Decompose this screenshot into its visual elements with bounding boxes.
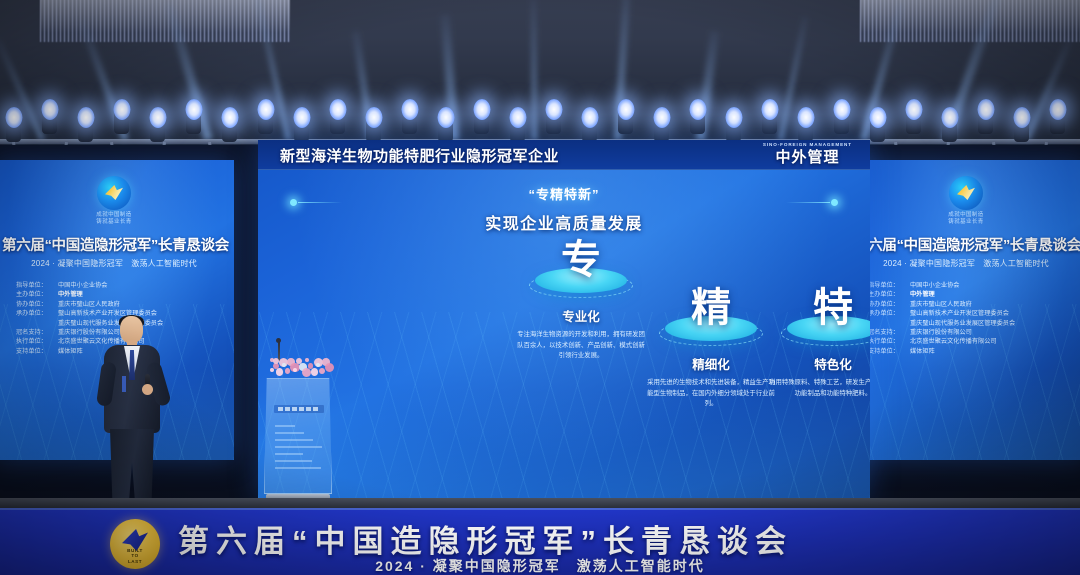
spotlight-glow xyxy=(1049,99,1066,120)
spotlight-fixture xyxy=(294,116,309,142)
organizer-row: 指导单位：中国中小企业协会 xyxy=(16,281,226,290)
flower-blossom xyxy=(270,368,274,372)
spotlight-glow xyxy=(653,107,670,128)
spotlight-fixture xyxy=(1050,108,1065,134)
organizer-role: 指导单位： xyxy=(16,281,58,290)
spotlight-fixture xyxy=(6,116,21,142)
ceiling-truss xyxy=(0,0,1080,150)
spotlight-fixture xyxy=(150,116,165,142)
organizer-role: 支持单位： xyxy=(16,347,58,356)
side-screen-right: 成就中国制造 铸就基业长青 第六届“中国造隐形冠军”长青恳谈会 2024 · 凝… xyxy=(846,160,1080,460)
pillar-description: 专注海洋生物资源的开发和利用，拥有研发团队百余人，以技术创新、产品创新、模式创新… xyxy=(506,330,656,362)
event-emblem-icon xyxy=(949,176,983,210)
organizer-role: 主办单位： xyxy=(16,290,58,299)
spotlight-glow xyxy=(761,99,778,120)
spotlight-fixture xyxy=(690,108,705,134)
spotlight-glow xyxy=(689,99,706,120)
spotlight-fixture xyxy=(654,116,669,142)
spotlight-fixture xyxy=(258,108,273,134)
spotlight-glow xyxy=(41,99,58,120)
spotlight-fixture xyxy=(546,108,561,134)
organizer-name: 北京盛世聚云文化传播有限公司 xyxy=(910,338,997,345)
side-event-subtitle: 2024 · 凝聚中国隐形冠军 激荡人工智能时代 xyxy=(2,258,226,269)
organizer-row: 冠名支持：重庆银行股份有限公司 xyxy=(868,328,1078,337)
emblem-motto-line1: 成就中国制造 xyxy=(2,212,226,219)
spotlight-glow xyxy=(185,99,202,120)
organizer-name: 璧山高新技术产业开发区管理委员会 xyxy=(910,310,1009,317)
podium-text-line xyxy=(275,453,303,455)
spotlight-glow xyxy=(617,99,634,120)
spotlight-glow xyxy=(77,107,94,128)
spotlight-fixture xyxy=(618,108,633,134)
organizer-row: 协办单位：重庆市璧山区人民政府 xyxy=(868,300,1078,309)
spotlight-fixture xyxy=(474,108,489,134)
banner-subtitle: 2024 · 凝聚中国隐形冠军 激荡人工智能时代 xyxy=(0,556,1080,575)
spotlight-glow xyxy=(5,107,22,128)
conference-stage-photo: 成就中国制造 铸就基业长青 第六届“中国造隐形冠军”长青恳谈会 2024 · 凝… xyxy=(0,0,1080,575)
side-event-subtitle: 2024 · 凝聚中国隐形冠军 激荡人工智能时代 xyxy=(854,258,1078,269)
organizer-role: 协办单位： xyxy=(16,300,58,309)
spotlight-glow xyxy=(509,107,526,128)
organizer-row: 重庆璧山现代服务业发展区管理委员会 xyxy=(868,319,1078,328)
acrylic-podium xyxy=(264,358,332,508)
spotlight-fixture xyxy=(78,116,93,142)
organizer-name: 重庆璧山现代服务业发展区管理委员会 xyxy=(910,320,1015,327)
spotlight-fixture xyxy=(762,108,777,134)
event-emblem-icon xyxy=(97,176,131,210)
flower-blossom xyxy=(276,368,284,376)
side-event-title: 第六届“中国造隐形冠军”长青恳谈会 xyxy=(2,234,226,255)
podium-nameplate xyxy=(274,405,324,413)
flower-blossom xyxy=(311,368,319,376)
spotlight-glow xyxy=(329,99,346,120)
stage-floor-edge xyxy=(0,498,1080,508)
spotlight-fixture xyxy=(978,108,993,134)
pillar-glyph: 专 xyxy=(506,240,656,280)
pillar-glyph: 特 xyxy=(758,288,870,328)
organizer-name: 重庆市璧山区人民政府 xyxy=(910,301,972,308)
organizer-role: 执行单位： xyxy=(868,337,910,346)
spotlight-fixture xyxy=(402,108,417,134)
slide-title: 新型海洋生物功能特肥行业隐形冠军企业 xyxy=(280,145,559,166)
speaker-lanyard xyxy=(122,376,126,392)
spotlight-glow xyxy=(293,107,310,128)
pillar-1: 专专业化专注海洋生物资源的开发和利用，拥有研发团队百余人，以技术创新、产品创新、… xyxy=(506,240,656,362)
emblem-motto-line2: 铸就基业长青 xyxy=(2,219,226,226)
emblem-motto-line2: 铸就基业长青 xyxy=(854,219,1078,226)
spotlight-fixture xyxy=(870,116,885,142)
spotlight-glow xyxy=(797,107,814,128)
spotlight-glow xyxy=(113,99,130,120)
podium-body xyxy=(264,378,332,494)
pillar-heading: 专业化 xyxy=(506,306,656,325)
spotlight-fixture xyxy=(1014,116,1029,142)
flower-arrangement xyxy=(268,356,330,378)
logo-motto-l1: BUILT xyxy=(127,548,143,553)
light-beam xyxy=(531,0,537,140)
spotlight-glow xyxy=(977,99,994,120)
speaker-head xyxy=(120,316,143,343)
spotlight-fixture xyxy=(726,116,741,142)
podium-text-line xyxy=(275,467,321,469)
organizer-role: 协办单位： xyxy=(868,300,910,309)
main-presentation-screen: 新型海洋生物功能特肥行业隐形冠军企业 SINO-FOREIGN MANAGEME… xyxy=(258,140,870,498)
spotlight-fixture xyxy=(42,108,57,134)
organizer-role: 冠名支持： xyxy=(16,328,58,337)
spotlight-fixture xyxy=(366,116,381,142)
spotlight-glow xyxy=(545,99,562,120)
slide-slogan: 实现企业高质量发展 xyxy=(258,210,870,234)
brand-chinese-name: 中外管理 xyxy=(763,146,852,167)
spotlight-glow xyxy=(257,99,274,120)
spotlight-glow xyxy=(149,107,166,128)
organizer-role: 指导单位： xyxy=(868,281,910,290)
spotlight-fixture xyxy=(222,116,237,142)
organizer-name: 媒体矩阵 xyxy=(910,348,935,355)
speaker-trousers xyxy=(110,429,154,509)
organizer-name: 中国中小企业协会 xyxy=(910,282,960,289)
spotlight-fixture xyxy=(438,116,453,142)
spotlight-glow xyxy=(869,107,886,128)
organizer-name: 媒体矩阵 xyxy=(58,348,83,355)
organizer-row: 主办单位：中外管理 xyxy=(16,290,226,299)
spotlight-glow xyxy=(401,99,418,120)
flower-blossom xyxy=(302,368,311,377)
organizer-row: 执行单位：北京盛世聚云文化传播有限公司 xyxy=(868,337,1078,346)
podium-printed-text xyxy=(275,425,323,475)
slide-kicker: “专精特新” xyxy=(258,184,870,203)
podium-text-line xyxy=(275,460,312,462)
spotlight-fixture xyxy=(798,116,813,142)
spotlight-glow xyxy=(725,107,742,128)
banner-main-title: 第六届“中国造隐形冠军”长青恳谈会 xyxy=(178,516,793,561)
podium-text-line xyxy=(275,446,322,448)
spotlight-glow xyxy=(581,107,598,128)
spotlight-glow xyxy=(833,99,850,120)
stage-front-banner: BUILT TO LAST 第六届“中国造隐形冠军”长青恳谈会 2024 · 凝… xyxy=(0,508,1080,575)
emblem-motto-line1: 成就中国制造 xyxy=(854,212,1078,219)
organizer-row: 主办单位：中外管理 xyxy=(868,290,1078,299)
side-event-title: 第六届“中国造隐形冠军”长青恳谈会 xyxy=(854,234,1078,255)
spotlight-fixture xyxy=(834,108,849,134)
podium-text-line xyxy=(275,439,313,441)
spotlight-glow xyxy=(905,99,922,120)
spotlight-glow xyxy=(473,99,490,120)
flower-blossom xyxy=(305,358,309,362)
speaker-person xyxy=(96,316,168,512)
pillar-heading: 特色化 xyxy=(758,354,870,373)
organizer-role: 冠名支持： xyxy=(868,328,910,337)
podium-text-line xyxy=(275,432,304,434)
speaker-hand xyxy=(142,384,153,395)
organizer-role: 支持单位： xyxy=(868,347,910,356)
spotlight-fixture xyxy=(330,108,345,134)
spotlight-glow xyxy=(437,107,454,128)
organizer-row: 承办单位：璧山高新技术产业开发区管理委员会 xyxy=(868,309,1078,318)
organizer-name: 重庆银行股份有限公司 xyxy=(910,329,972,336)
spotlight-fixture xyxy=(906,108,921,134)
organizer-role: 主办单位： xyxy=(868,290,910,299)
spotlight-fixture xyxy=(114,108,129,134)
spotlight-glow xyxy=(221,107,238,128)
organizer-role: 承办单位： xyxy=(16,309,58,318)
flower-blossom xyxy=(282,363,286,367)
screen-skyline-main xyxy=(258,391,870,498)
podium-text-line xyxy=(275,425,295,427)
organizer-name: 重庆市璧山区人民政府 xyxy=(58,301,120,308)
organizer-name: 中外管理 xyxy=(910,291,935,298)
spotlight-glow xyxy=(941,107,958,128)
organizer-role: 执行单位： xyxy=(16,337,58,346)
organizer-name: 中国中小企业协会 xyxy=(58,282,108,289)
organizer-row: 指导单位：中国中小企业协会 xyxy=(868,281,1078,290)
spotlight-glow xyxy=(365,107,382,128)
organizer-row: 支持单位：媒体矩阵 xyxy=(868,347,1078,356)
spotlight-fixture xyxy=(582,116,597,142)
organizer-row: 协办单位：重庆市璧山区人民政府 xyxy=(16,300,226,309)
magazine-brand-logo: SINO-FOREIGN MANAGEMENT 中外管理 xyxy=(763,142,852,167)
organizer-list-right: 指导单位：中国中小企业协会主办单位：中外管理协办单位：重庆市璧山区人民政府承办单… xyxy=(854,281,1078,356)
spotlight-glow xyxy=(1013,107,1030,128)
organizer-name: 中外管理 xyxy=(58,291,83,298)
organizer-role: 承办单位： xyxy=(868,309,910,318)
pillar-3: 特特色化利用特殊原料、特殊工艺，研发生产系列特殊功能制品和功能特种肥料。 xyxy=(758,288,870,399)
flower-blossom xyxy=(273,358,279,364)
spotlight-fixture xyxy=(942,116,957,142)
spotlight-fixture xyxy=(186,108,201,134)
spotlight-fixture xyxy=(510,116,525,142)
